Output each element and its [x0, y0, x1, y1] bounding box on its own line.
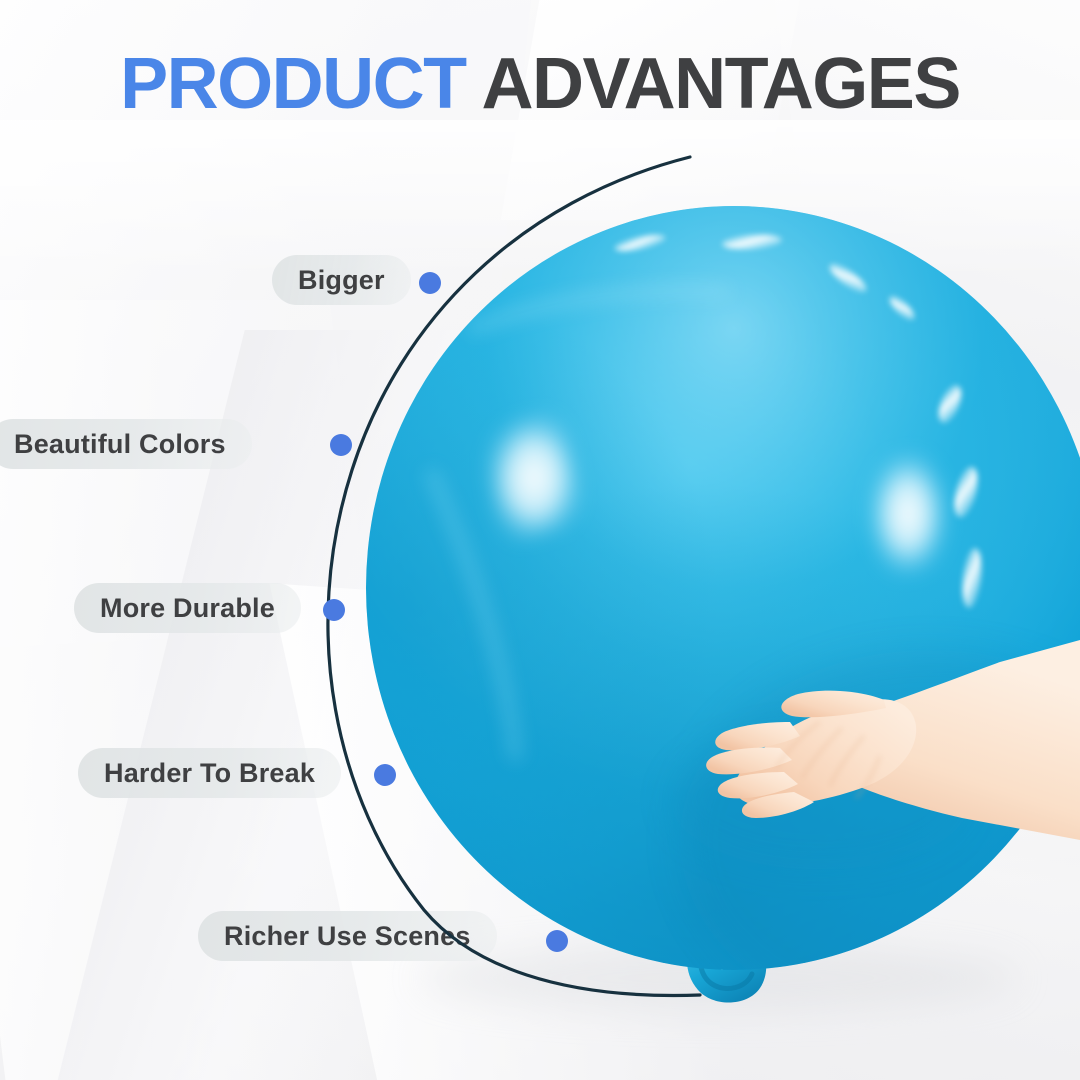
- page-title-rest: ADVANTAGES: [466, 44, 960, 124]
- balloon-illustration: [0, 0, 1080, 1080]
- page-title: PRODUCT ADVANTAGES: [0, 48, 1080, 120]
- feature-label-text: More Durable: [100, 593, 275, 624]
- infographic-canvas: PRODUCT ADVANTAGES: [0, 0, 1080, 1080]
- balloon-body: [366, 206, 1080, 1030]
- feature-label-text: Beautiful Colors: [14, 429, 226, 460]
- feature-label-more-durable[interactable]: More Durable: [74, 583, 301, 633]
- feature-label-text: Richer Use Scenes: [224, 921, 471, 952]
- feature-label-text: Bigger: [298, 265, 385, 296]
- feature-label-richer-use-scenes[interactable]: Richer Use Scenes: [198, 911, 497, 961]
- feature-label-beautiful-colors[interactable]: Beautiful Colors: [0, 419, 252, 469]
- page-title-accent: PRODUCT: [120, 44, 466, 124]
- balloon-highlight-right: [866, 448, 950, 580]
- feature-label-text: Harder To Break: [104, 758, 315, 789]
- feature-label-bigger[interactable]: Bigger: [272, 255, 411, 305]
- feature-label-harder-to-break[interactable]: Harder To Break: [78, 748, 341, 798]
